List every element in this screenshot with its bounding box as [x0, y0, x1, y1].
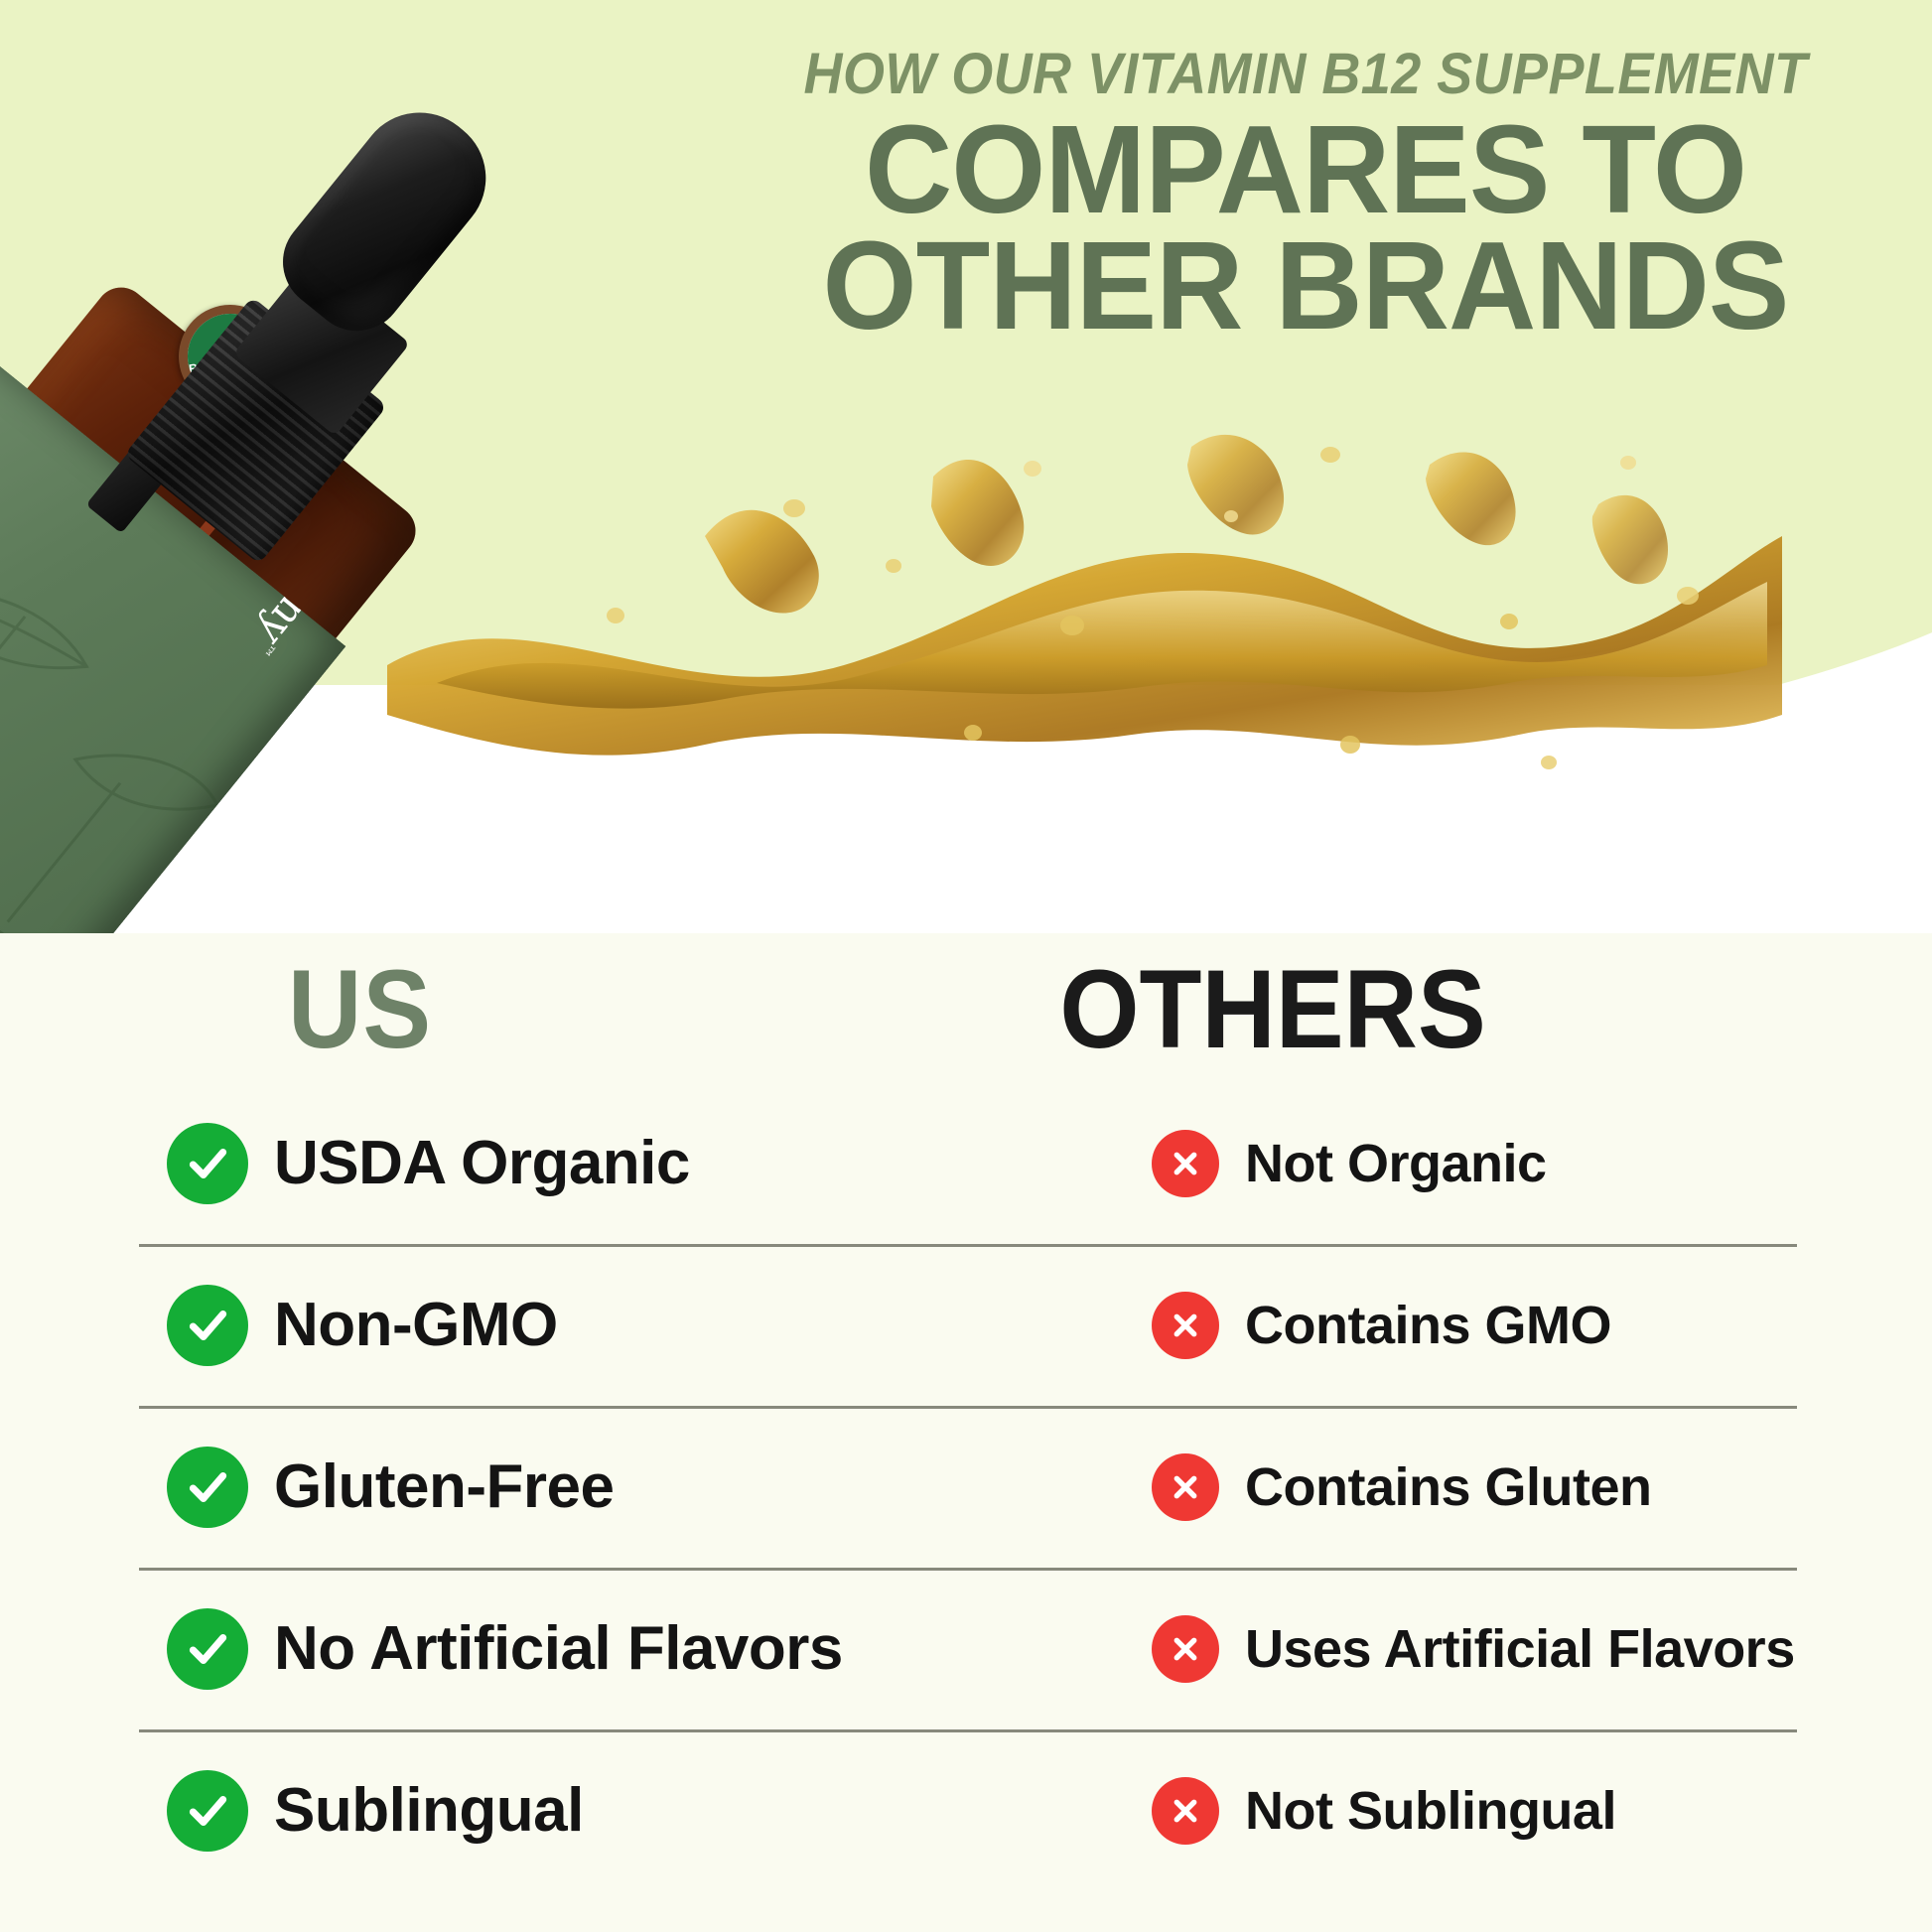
- headline-title-line2: OTHER BRANDS: [713, 227, 1897, 344]
- product-bottle-image: earth harmony™ VITAMIN B12 USDA ORGANIC: [0, 94, 864, 879]
- check-circle-icon: [167, 1608, 248, 1690]
- comparison-cell-others: Uses Artificial Flavors: [1152, 1615, 1795, 1683]
- x-circle-icon: [1152, 1292, 1219, 1359]
- comparison-cell-us: Non-GMO: [167, 1285, 558, 1366]
- comparison-label-others: Uses Artificial Flavors: [1245, 1618, 1795, 1680]
- comparison-label-others: Not Organic: [1245, 1133, 1547, 1194]
- comparison-label-others: Contains Gluten: [1245, 1456, 1652, 1518]
- comparison-label-us: Sublingual: [274, 1775, 584, 1846]
- comparison-cell-others: Contains Gluten: [1152, 1453, 1652, 1521]
- comparison-cell-us: Sublingual: [167, 1770, 584, 1852]
- comparison-label-us: Non-GMO: [274, 1290, 558, 1360]
- infographic-page: HOW OUR VITAMIN B12 SUPPLEMENT COMPARES …: [0, 0, 1932, 1932]
- comparison-label-others: Not Sublingual: [1245, 1780, 1616, 1842]
- check-circle-icon: [167, 1770, 248, 1852]
- comparison-cell-others: Contains GMO: [1152, 1292, 1611, 1359]
- headline-block: HOW OUR VITAMIN B12 SUPPLEMENT COMPARES …: [695, 46, 1916, 344]
- row-divider: [139, 1729, 1797, 1732]
- comparison-row: USDA Organic Not Organic: [0, 1082, 1932, 1244]
- x-circle-icon: [1152, 1777, 1219, 1845]
- comparison-column-headings: US OTHERS: [0, 933, 1932, 1082]
- check-circle-icon: [167, 1123, 248, 1204]
- x-circle-icon: [1152, 1615, 1219, 1683]
- column-heading-others: OTHERS: [1059, 945, 1485, 1073]
- column-heading-us: US: [288, 945, 432, 1073]
- comparison-cell-us: Gluten-Free: [167, 1447, 614, 1528]
- comparison-cell-us: No Artificial Flavors: [167, 1608, 843, 1690]
- x-circle-icon: [1152, 1130, 1219, 1197]
- headline-eyebrow: HOW OUR VITAMIN B12 SUPPLEMENT: [738, 46, 1873, 103]
- comparison-label-others: Contains GMO: [1245, 1295, 1611, 1356]
- comparison-label-us: USDA Organic: [274, 1128, 690, 1198]
- comparison-label-us: No Artificial Flavors: [274, 1613, 843, 1684]
- comparison-label-us: Gluten-Free: [274, 1451, 614, 1522]
- comparison-rows: USDA Organic Not Organic Non-GMO: [0, 1082, 1932, 1891]
- comparison-row: Gluten-Free Contains Gluten: [0, 1406, 1932, 1568]
- row-divider: [139, 1406, 1797, 1409]
- comparison-cell-others: Not Sublingual: [1152, 1777, 1616, 1845]
- row-divider: [139, 1244, 1797, 1247]
- check-circle-icon: [167, 1285, 248, 1366]
- comparison-row: Non-GMO Contains GMO: [0, 1244, 1932, 1406]
- x-circle-icon: [1152, 1453, 1219, 1521]
- comparison-row: Sublingual Not Sublingual: [0, 1729, 1932, 1891]
- comparison-cell-others: Not Organic: [1152, 1130, 1547, 1197]
- row-divider: [139, 1568, 1797, 1571]
- comparison-cell-us: USDA Organic: [167, 1123, 690, 1204]
- hero-section: HOW OUR VITAMIN B12 SUPPLEMENT COMPARES …: [0, 0, 1932, 953]
- check-circle-icon: [167, 1447, 248, 1528]
- comparison-section: US OTHERS USDA Organic Not Organic: [0, 933, 1932, 1932]
- comparison-row: No Artificial Flavors Uses Artificial Fl…: [0, 1568, 1932, 1729]
- headline-title: COMPARES TO OTHER BRANDS: [713, 111, 1897, 344]
